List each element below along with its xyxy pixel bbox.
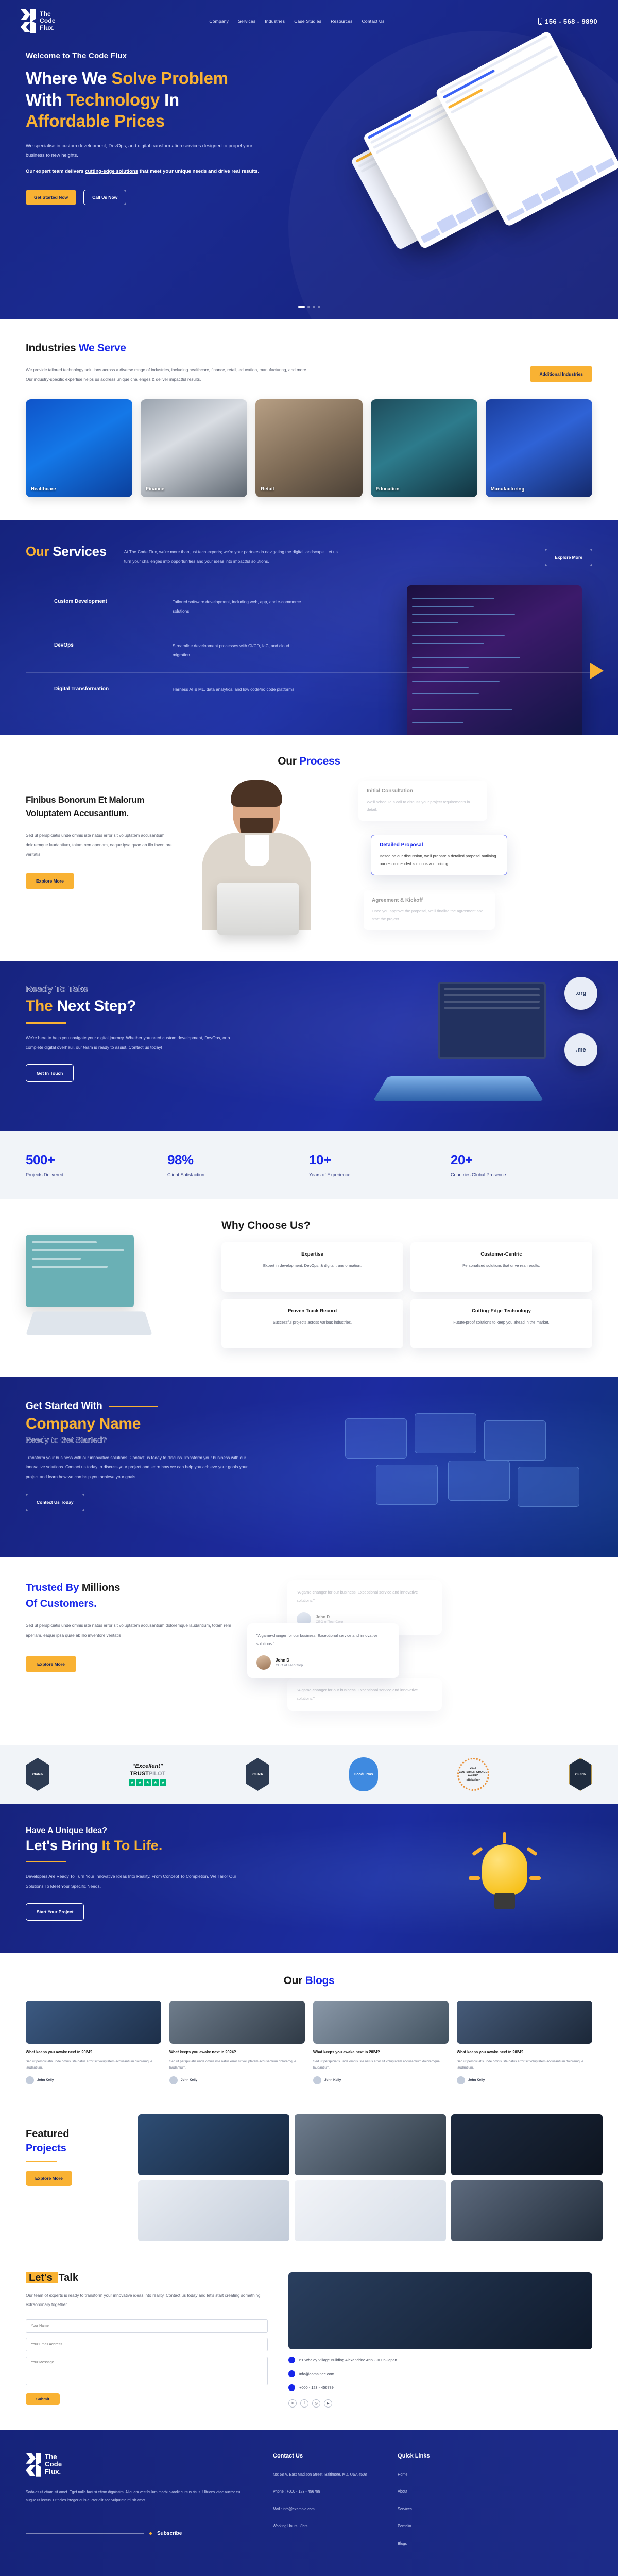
services-rows: Custom Development Tailored software dev… xyxy=(26,585,592,707)
service-text-devops: Streamline development processes with CI… xyxy=(173,641,306,660)
lets-talk-paragraph: Our team of experts is ready to transfor… xyxy=(26,2291,268,2310)
industries-title-a: Industries xyxy=(26,342,79,354)
subscribe-button[interactable]: Subscribe xyxy=(157,2531,182,2536)
blog-2-author-avatar xyxy=(169,2076,178,2084)
process-step-3-title: Agreement & Kickoff xyxy=(372,897,487,903)
subscribe-dot-icon xyxy=(149,2532,152,2535)
code-screen-graphic xyxy=(26,1235,180,1343)
why-card-1-text: Expert in development, DevOps, & digital… xyxy=(229,1262,396,1269)
clutch-hex-icon-1: Clutch xyxy=(26,1758,49,1791)
next-step-title-a: The xyxy=(26,997,57,1014)
blog-4-meta: John Kelly xyxy=(457,2076,592,2084)
services-title: Our Services xyxy=(26,544,107,560)
featured-title-b: Projects xyxy=(26,2143,66,2154)
stat-number-countries: 20+ xyxy=(451,1152,592,1168)
hero-carousel-dots[interactable] xyxy=(0,306,618,308)
blog-3-title: What keeps you awake next in 2024? xyxy=(313,2049,449,2056)
why-card-customer-centric[interactable]: Customer-CentricPersonalized solutions t… xyxy=(410,1242,592,1292)
testimonials-title-a: Trusted By xyxy=(26,1582,82,1594)
why-card-3-title: Proven Track Record xyxy=(229,1308,396,1314)
blogs-section: Our Blogs What keeps you awake next in 2… xyxy=(0,1953,618,2109)
blog-2-meta: John Kelly xyxy=(169,2076,305,2084)
site-logo[interactable]: The Code Flux. xyxy=(21,9,56,33)
lets-talk-title: Let's Talk xyxy=(26,2272,268,2284)
testimonials-title-b: Millions xyxy=(82,1582,120,1594)
clutch-3-label: Clutch xyxy=(575,1773,586,1776)
footer-contact-hours: Working Hours : 8hrs xyxy=(273,2523,367,2529)
footer-contact-address: No: 58 A, East Madison Street, Baltimore… xyxy=(273,2471,367,2478)
lets-talk-right: 61 Whaley Village Building Alexandrine 4… xyxy=(288,2272,592,2408)
footer-columns: The Code Flux. Sodales ut etiam sit amet… xyxy=(26,2453,592,2558)
phone-icon xyxy=(538,18,542,25)
unique-idea-line-2b: It To Life. xyxy=(101,1838,162,1853)
industries-card-list: Healthcare Finance Retail Education Manu… xyxy=(26,399,592,497)
hero-title-line2b: Technology xyxy=(66,90,160,109)
process-title-b: Process xyxy=(299,755,340,767)
why-card-4-text: Future-proof solutions to keep you ahead… xyxy=(418,1318,585,1326)
services-header: Our Services At The Code Flux, we're mor… xyxy=(26,544,592,567)
footer-contact-title: Contact Us xyxy=(273,2453,367,2459)
testimonials-section: Trusted By MillionsOf Customers. Sed ut … xyxy=(0,1557,618,1745)
main-nav: Company Services Industries Case Studies… xyxy=(209,19,384,24)
next-step-outline-heading: Ready To Take xyxy=(26,984,268,994)
featured-projects-section: FeaturedProjects Explore More xyxy=(0,2109,618,2262)
testimonial-1-name: John D xyxy=(316,1615,343,1619)
blog-3-excerpt: Sed ut perspiciatis unde omnis iste natu… xyxy=(313,2059,449,2071)
industry-label-manufacturing: Manufacturing xyxy=(491,486,524,492)
name-input[interactable] xyxy=(26,2319,268,2333)
testimonial-card-2[interactable]: "A game-changer for our business. Except… xyxy=(247,1623,399,1678)
industries-title-b: We Serve xyxy=(79,342,126,354)
blog-1-meta: John Kelly xyxy=(26,2076,161,2084)
process-step-1-title: Initial Consultation xyxy=(367,788,479,794)
featured-explore-more-button[interactable]: Explore More xyxy=(26,2171,72,2186)
blog-4-title: What keeps you awake next in 2024? xyxy=(457,2049,592,2056)
hero-p2-highlight: cutting-edge solutions xyxy=(85,168,138,174)
why-card-grid: ExpertiseExpert in development, DevOps, … xyxy=(221,1242,592,1348)
lets-talk-title-a: Let's xyxy=(26,2272,58,2283)
domain-pill-me: .me xyxy=(564,1033,597,1066)
logo-chevron-icon xyxy=(21,9,36,33)
badge-clutch-seo-companies: Clutch xyxy=(246,1758,269,1791)
nav-item-contact-us[interactable]: Contact Us xyxy=(362,19,385,24)
process-step-detailed-proposal[interactable]: Detailed Proposal Based on our discussio… xyxy=(371,835,507,875)
testimonial-card-3[interactable]: "A game-changer for our business. Except… xyxy=(287,1678,442,1711)
footer-logo-line-3: Flux. xyxy=(45,2468,62,2476)
hero-title-line2c: In xyxy=(160,90,179,109)
footer-about-text: Sodales ut etiam sit amet. Eget nulla fa… xyxy=(26,2488,242,2504)
testimonials-explore-more-button[interactable]: Explore More xyxy=(26,1656,76,1672)
industries-header-row: We provide tailored technology solutions… xyxy=(26,366,592,385)
process-title: Our Process xyxy=(26,755,592,768)
hero-title-line1a: Where We xyxy=(26,69,111,88)
process-title-a: Our xyxy=(278,755,299,767)
featured-divider xyxy=(26,2161,57,2162)
service-name-digital-transformation: Digital Transformation xyxy=(54,685,152,694)
start-your-project-button[interactable]: Start Your Project xyxy=(26,1903,84,1921)
testimonial-2-name: John D xyxy=(276,1658,303,1663)
why-card-1-title: Expertise xyxy=(229,1251,396,1257)
hero-section: The Code Flux. Company Services Industri… xyxy=(0,0,618,319)
blog-card-grid: What keeps you awake next in 2024? Sed u… xyxy=(26,2001,592,2084)
contact-email-text: info@domainee.com xyxy=(299,2371,334,2376)
subscribe-input-line[interactable] xyxy=(26,2533,144,2534)
linkedin-icon[interactable]: in xyxy=(288,2399,297,2408)
blogs-title: Our Blogs xyxy=(26,1975,592,1987)
get-started-line-1-text: Get Started With xyxy=(26,1401,102,1412)
logo-line-3: Flux. xyxy=(40,25,56,31)
services-description: At The Code Flux, we're more than just t… xyxy=(124,548,346,567)
blog-3-author: John Kelly xyxy=(324,2078,341,2082)
hero-title: Where We Solve Problem With Technology I… xyxy=(26,67,288,132)
get-in-touch-button[interactable]: Get In Touch xyxy=(26,1064,74,1082)
footer-contact-phone[interactable]: Phone : +000 - 123 - 456789 xyxy=(273,2488,367,2495)
carousel-dot-4[interactable] xyxy=(318,306,320,308)
blog-1-excerpt: Sed ut perspiciatis unde omnis iste natu… xyxy=(26,2059,161,2071)
industries-title: Industries We Serve xyxy=(26,342,592,354)
sitejabber-brand: sitejabber xyxy=(467,1778,480,1783)
footer-quick-title: Quick Links xyxy=(398,2453,430,2459)
services-section: Our Services At The Code Flux, we're mor… xyxy=(0,520,618,735)
unique-idea-section: Have A Unique Idea? Let's Bring It To Li… xyxy=(0,1804,618,1953)
service-row-devops[interactable]: DevOps Streamline development processes … xyxy=(26,629,592,673)
process-step-initial-consultation[interactable]: Initial Consultation We'll schedule a ca… xyxy=(358,781,487,821)
blog-card-4[interactable]: What keeps you awake next in 2024? Sed u… xyxy=(457,2001,592,2084)
footer-logo-line-2: Code xyxy=(45,2461,62,2468)
carousel-dot-2[interactable] xyxy=(307,306,310,308)
next-step-illustration: .org .me xyxy=(319,972,608,1126)
process-paragraph: Sed ut perspiciatis unde omnis iste natu… xyxy=(26,831,180,859)
why-illustration xyxy=(26,1219,206,1353)
process-step-2-text: Based on our discussion, we'll prepare a… xyxy=(380,852,499,868)
footer-logo-wordmark: The Code Flux. xyxy=(45,2453,62,2476)
get-started-dash xyxy=(109,1406,158,1408)
featured-title-a: Featured xyxy=(26,2128,69,2140)
services-explore-more-button[interactable]: Explore More xyxy=(545,549,592,566)
badge-clutch-software-developers: Clutch xyxy=(26,1758,49,1791)
hero-illustration xyxy=(324,46,603,263)
blog-1-thumbnail xyxy=(26,2001,161,2044)
clutch-1-label: Clutch xyxy=(32,1773,43,1776)
testimonial-2-quote: "A game-changer for our business. Except… xyxy=(256,1632,390,1648)
footer-link-services[interactable]: Services xyxy=(398,2506,430,2512)
trustpilot-word-b: PILOT xyxy=(149,1771,165,1777)
monitor-graphic xyxy=(438,982,546,1059)
featured-project-grid xyxy=(138,2114,618,2241)
why-card-2-title: Customer-Centric xyxy=(418,1251,585,1257)
next-step-content: Ready To Take The Next Step? We're here … xyxy=(26,984,268,1082)
why-content: Why Choose Us? ExpertiseExpert in develo… xyxy=(221,1219,592,1348)
blog-4-author: John Kelly xyxy=(468,2078,485,2082)
testimonials-title-c: Of Customers. xyxy=(26,1598,97,1609)
blog-4-thumbnail xyxy=(457,2001,592,2044)
service-name-devops: DevOps xyxy=(54,641,152,660)
service-row-custom-development[interactable]: Custom Development Tailored software dev… xyxy=(26,585,592,629)
why-card-proven-track-record[interactable]: Proven Track RecordSuccessful projects a… xyxy=(221,1299,403,1348)
unique-idea-line-2a: Let's Bring xyxy=(26,1838,101,1853)
blog-1-author-avatar xyxy=(26,2076,34,2084)
get-started-paragraph: Transform your business with our innovat… xyxy=(26,1453,260,1481)
unique-idea-line-2: Let's Bring It To Life. xyxy=(26,1838,592,1854)
industries-description: We provide tailored technology solutions… xyxy=(26,366,314,385)
testimonial-3-quote: "A game-changer for our business. Except… xyxy=(297,1686,433,1703)
blog-card-3[interactable]: What keeps you awake next in 2024? Sed u… xyxy=(313,2001,449,2084)
featured-project-1[interactable] xyxy=(138,2114,289,2175)
hero-title-line3: Affordable Prices xyxy=(26,111,165,130)
contact-form: Submit xyxy=(26,2319,268,2405)
why-card-3-text: Successful projects across various indus… xyxy=(229,1318,396,1326)
blog-1-title: What keeps you awake next in 2024? xyxy=(26,2049,161,2056)
service-text-digital-transformation: Harness AI & ML, data analytics, and low… xyxy=(173,685,295,694)
instagram-icon[interactable]: ◎ xyxy=(312,2399,320,2408)
hero-title-line1b: Solve Problem xyxy=(111,69,228,88)
why-card-2-text: Personalized solutions that drive real r… xyxy=(418,1262,585,1269)
testimonial-2-avatar xyxy=(256,1655,271,1670)
goodfirms-icon: GoodFirms xyxy=(349,1757,378,1791)
stat-years-experience: 10+ Years of Experience xyxy=(309,1152,451,1177)
industry-card-education[interactable]: Education xyxy=(371,399,477,497)
blog-4-author-avatar xyxy=(457,2076,465,2084)
testimonials-title: Trusted By MillionsOf Customers. xyxy=(26,1580,232,1612)
contact-image xyxy=(288,2272,592,2349)
clutch-hex-icon-3: Clutch xyxy=(569,1758,592,1791)
service-name-custom-development: Custom Development xyxy=(54,598,152,616)
clutch-2-label: Clutch xyxy=(252,1773,263,1776)
nav-item-services[interactable]: Services xyxy=(238,19,255,24)
stat-number-projects: 500+ xyxy=(26,1152,167,1168)
get-started-section: Get Started With Company Name Ready to G… xyxy=(0,1377,618,1557)
unique-idea-paragraph: Developers Are Ready To Turn Your Innova… xyxy=(26,1872,247,1891)
stat-number-satisfaction: 98% xyxy=(167,1152,309,1168)
testimonial-2-role: CEO of TechCorp xyxy=(276,1664,303,1667)
industry-card-finance[interactable]: Finance xyxy=(141,399,247,497)
blogs-title-b: Blogs xyxy=(305,1975,335,1987)
trust-badges-section: Clutch “Excellent” TRUSTPILOT ★★★★★ Clut… xyxy=(0,1745,618,1804)
industry-label-education: Education xyxy=(376,486,400,492)
process-step-agreement-kickoff[interactable]: Agreement & Kickoff Once you approve the… xyxy=(364,890,495,930)
domain-pill-org: .org xyxy=(564,977,597,1010)
industry-label-healthcare: Healthcare xyxy=(31,486,56,492)
hero-eyebrow: Welcome to The Code Flux xyxy=(26,52,288,60)
footer-logo[interactable]: The Code Flux. xyxy=(26,2453,242,2477)
industries-section: Industries We Serve We provide tailored … xyxy=(0,319,618,520)
featured-project-2[interactable] xyxy=(295,2114,446,2175)
badge-clutch-b2b-global: Clutch xyxy=(569,1758,592,1791)
sitejabber-icon: 2018 CUSTOMER CHOICE AWARD sitejabber xyxy=(457,1758,489,1791)
next-step-title: The Next Step? xyxy=(26,997,268,1015)
industry-label-finance: Finance xyxy=(146,486,164,492)
mail-icon xyxy=(288,2370,295,2377)
blog-3-thumbnail xyxy=(313,2001,449,2044)
youtube-icon[interactable]: ▶ xyxy=(324,2399,332,2408)
stat-client-satisfaction: 98% Client Satisfaction xyxy=(167,1152,309,1177)
carousel-dot-3[interactable] xyxy=(313,306,315,308)
header-phone-number: 156 - 568 - 9890 xyxy=(545,18,597,25)
top-navbar: The Code Flux. Company Services Industri… xyxy=(0,0,618,33)
footer-link-home[interactable]: Home xyxy=(398,2471,430,2478)
email-input[interactable] xyxy=(26,2338,268,2351)
nav-item-resources[interactable]: Resources xyxy=(331,19,352,24)
phone-icon-contact xyxy=(288,2384,295,2391)
get-started-content: Get Started With Company Name Ready to G… xyxy=(26,1401,592,1511)
unique-idea-line-1: Have A Unique Idea? xyxy=(26,1826,592,1836)
next-step-divider xyxy=(26,1022,66,1024)
contact-email-row[interactable]: info@domainee.com xyxy=(288,2370,592,2377)
featured-project-6[interactable] xyxy=(451,2180,603,2241)
blog-2-author: John Kelly xyxy=(181,2078,197,2082)
process-steps: Initial Consultation We'll schedule a ca… xyxy=(340,781,592,936)
process-body: Finibus Bonorum Et Malorum Voluptatem Ac… xyxy=(26,781,592,936)
footer-link-about[interactable]: About xyxy=(398,2488,430,2495)
logo-line-2: Code xyxy=(40,18,56,24)
featured-project-5[interactable] xyxy=(295,2180,446,2241)
service-row-digital-transformation[interactable]: Digital Transformation Harness AI & ML, … xyxy=(26,673,592,707)
unique-idea-content: Have A Unique Idea? Let's Bring It To Li… xyxy=(26,1826,592,1921)
get-started-line-1: Get Started With xyxy=(26,1401,592,1412)
footer-link-blogs[interactable]: Blogs xyxy=(398,2540,430,2547)
testimonials-left: Trusted By MillionsOf Customers. Sed ut … xyxy=(26,1580,232,1719)
get-started-company-name: Company Name xyxy=(26,1415,592,1433)
process-heading: Finibus Bonorum Et Malorum Voluptatem Ac… xyxy=(26,793,180,820)
industry-card-healthcare[interactable]: Healthcare xyxy=(26,399,132,497)
testimonials-paragraph: Sed ut perspiciatis unde omnis iste natu… xyxy=(26,1621,232,1640)
blog-card-1[interactable]: What keeps you awake next in 2024? Sed u… xyxy=(26,2001,161,2084)
service-text-custom-development: Tailored software development, including… xyxy=(173,598,306,616)
next-step-section: .org .me Ready To Take The Next Step? We… xyxy=(0,961,618,1131)
contact-socials: in f ◎ ▶ xyxy=(288,2399,592,2408)
contact-phone-text: +000 - 123 - 456789 xyxy=(299,2385,334,2390)
process-explore-more-button[interactable]: Explore More xyxy=(26,873,74,889)
get-started-line-3: Ready to Get Started? xyxy=(26,1436,592,1445)
additional-industries-button[interactable]: Additional Industries xyxy=(530,366,592,382)
contact-address-text: 61 Whaley Village Building Alexandrine 4… xyxy=(299,2358,397,2362)
person-with-laptop-image xyxy=(196,781,317,936)
hero-paragraph-2: Our expert team delivers cutting-edge so… xyxy=(26,166,268,176)
facebook-icon[interactable]: f xyxy=(300,2399,308,2408)
platform-shape xyxy=(373,1076,544,1101)
services-title-b: Services xyxy=(53,544,107,559)
site-footer: The Code Flux. Sodales ut etiam sit amet… xyxy=(0,2430,618,2576)
carousel-dot-1[interactable] xyxy=(298,306,305,308)
blog-2-title: What keeps you awake next in 2024? xyxy=(169,2049,305,2056)
call-us-now-button[interactable]: Call Us Now xyxy=(83,190,126,205)
next-step-paragraph: We're here to help you navigate your dig… xyxy=(26,1033,247,1052)
stat-label-satisfaction: Client Satisfaction xyxy=(167,1172,309,1177)
blog-3-author-avatar xyxy=(313,2076,321,2084)
footer-contact-mail[interactable]: Mail : info@example.com xyxy=(273,2506,367,2512)
location-pin-icon xyxy=(288,2357,295,2363)
trustpilot-stars-icon: ★★★★★ xyxy=(129,1779,166,1786)
stat-label-projects: Projects Delivered xyxy=(26,1172,167,1177)
nav-item-case-studies[interactable]: Case Studies xyxy=(294,19,321,24)
stat-projects-delivered: 500+ Projects Delivered xyxy=(26,1152,167,1177)
blogs-title-a: Our xyxy=(284,1975,305,1987)
badge-goodfirms: GoodFirms xyxy=(349,1757,378,1791)
blog-1-author: John Kelly xyxy=(37,2078,54,2082)
industry-card-manufacturing[interactable]: Manufacturing xyxy=(486,399,592,497)
logo-line-1: The xyxy=(40,11,56,18)
featured-title: FeaturedProjects xyxy=(26,2127,129,2156)
lets-talk-title-b: Talk xyxy=(58,2272,78,2283)
hero-content: Welcome to The Code Flux Where We Solve … xyxy=(0,33,288,205)
hero-title-line2a: With xyxy=(26,90,66,109)
testimonial-2-person: John DCEO of TechCorp xyxy=(256,1655,390,1670)
submit-button[interactable]: Submit xyxy=(26,2393,60,2405)
sitejabber-title: CUSTOMER CHOICE AWARD xyxy=(459,1771,488,1778)
stat-number-years: 10+ xyxy=(309,1152,451,1168)
process-left-column: Finibus Bonorum Et Malorum Voluptatem Ac… xyxy=(26,781,180,936)
why-choose-us-section: Why Choose Us? ExpertiseExpert in develo… xyxy=(0,1199,618,1377)
featured-project-3[interactable] xyxy=(451,2114,603,2175)
blog-card-2[interactable]: What keeps you awake next in 2024? Sed u… xyxy=(169,2001,305,2084)
featured-left: FeaturedProjects Explore More xyxy=(0,2114,129,2241)
process-step-1-text: We'll schedule a call to discuss your pr… xyxy=(367,798,479,814)
newsletter-subscribe-row[interactable]: Subscribe xyxy=(26,2531,242,2536)
industry-card-retail[interactable]: Retail xyxy=(255,399,362,497)
stat-countries: 20+ Countries Global Presence xyxy=(451,1152,592,1177)
badge-sitejabber: 2018 CUSTOMER CHOICE AWARD sitejabber xyxy=(457,1758,489,1791)
sitejabber-year: 2018 xyxy=(470,1767,476,1771)
testimonials-cards: "A game-changer for our business. Except… xyxy=(247,1580,592,1719)
goodfirms-label: GoodFirms xyxy=(354,1773,373,1776)
why-title-b: Choose Us? xyxy=(247,1219,311,1231)
process-step-2-title: Detailed Proposal xyxy=(380,842,499,848)
blog-3-meta: John Kelly xyxy=(313,2076,449,2084)
footer-link-portfolio[interactable]: Portfolio xyxy=(398,2523,430,2529)
blog-2-excerpt: Sed ut perspiciatis unde omnis iste natu… xyxy=(169,2059,305,2071)
footer-about-column: The Code Flux. Sodales ut etiam sit amet… xyxy=(26,2453,242,2558)
blog-4-excerpt: Sed ut perspiciatis unde omnis iste natu… xyxy=(457,2059,592,2071)
featured-project-4[interactable] xyxy=(138,2180,289,2241)
hero-button-row: Get Started Now Call Us Now xyxy=(26,190,288,205)
process-section: Our Process Finibus Bonorum Et Malorum V… xyxy=(0,735,618,961)
hero-p2-c: that meet your unique needs and drive re… xyxy=(138,168,259,174)
process-step-3-text: Once you approve the proposal, we'll fin… xyxy=(372,907,487,923)
logo-wordmark: The Code Flux. xyxy=(40,11,56,31)
why-title: Why Choose Us? xyxy=(221,1219,592,1232)
get-started-now-button[interactable]: Get Started Now xyxy=(26,190,76,205)
play-arrow-icon[interactable] xyxy=(590,663,604,679)
footer-logo-line-1: The xyxy=(45,2453,62,2461)
hero-p2-a: Our expert team delivers xyxy=(26,168,85,174)
trustpilot-wordmark: TRUSTPILOT xyxy=(129,1771,166,1777)
services-title-a: Our xyxy=(26,544,53,559)
contact-address-row: 61 Whaley Village Building Alexandrine 4… xyxy=(288,2357,592,2363)
trustpilot-excellent-label: “Excellent” xyxy=(129,1763,166,1769)
unique-idea-divider xyxy=(26,1861,66,1862)
nav-item-company[interactable]: Company xyxy=(209,19,229,24)
contact-phone-row[interactable]: +000 - 123 - 456789 xyxy=(288,2384,592,2391)
why-card-expertise[interactable]: ExpertiseExpert in development, DevOps, … xyxy=(221,1242,403,1292)
why-card-cutting-edge-technology[interactable]: Cutting-Edge TechnologyFuture-proof solu… xyxy=(410,1299,592,1348)
footer-quick-links-column: Quick Links Home About Services Portfoli… xyxy=(398,2453,430,2558)
lets-talk-left: Let's Talk Our team of experts is ready … xyxy=(26,2272,268,2408)
badge-trustpilot: “Excellent” TRUSTPILOT ★★★★★ xyxy=(129,1763,166,1786)
header-phone[interactable]: 156 - 568 - 9890 xyxy=(538,18,597,25)
contact-us-today-button[interactable]: Contect Us Today xyxy=(26,1494,84,1511)
trustpilot-word-a: TRUST xyxy=(130,1771,149,1777)
footer-contact-column: Contact Us No: 58 A, East Madison Street… xyxy=(273,2453,367,2558)
testimonial-1-quote: "A game-changer for our business. Except… xyxy=(297,1588,433,1605)
hero-paragraph: We specialise in custom development, Dev… xyxy=(26,141,268,160)
blog-2-thumbnail xyxy=(169,2001,305,2044)
message-textarea[interactable] xyxy=(26,2357,268,2385)
process-person-illustration xyxy=(180,781,340,936)
stats-section: 500+ Projects Delivered 98% Client Satis… xyxy=(0,1131,618,1199)
clutch-hex-icon-2: Clutch xyxy=(246,1758,269,1791)
nav-item-industries[interactable]: Industries xyxy=(265,19,285,24)
lets-talk-section: Let's Talk Our team of experts is ready … xyxy=(0,2262,618,2430)
